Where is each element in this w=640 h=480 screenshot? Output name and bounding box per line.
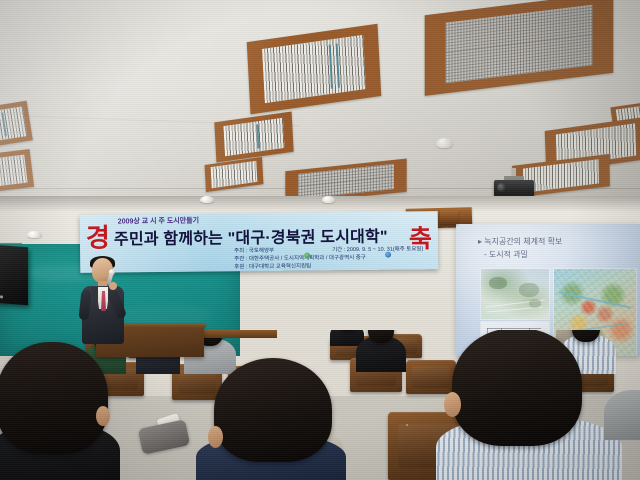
banner-left-mark: 경	[86, 225, 110, 251]
ceiling-vent	[0, 149, 34, 193]
organizer-logo-icon	[304, 252, 310, 258]
ceiling-vent	[205, 157, 264, 192]
ceiling-vent	[214, 112, 293, 163]
folded-cloth	[138, 419, 190, 454]
lecture-chair	[406, 360, 456, 394]
wall-speaker	[0, 245, 28, 305]
city-logo-icon	[385, 252, 391, 258]
wall-ceiling-shadow	[0, 196, 640, 212]
wall-wood-trim	[440, 210, 458, 224]
event-banner: 경 축 2009상 교 시 주 도시만들기 주민과 함께하는 "대구·경북권 도…	[80, 211, 439, 273]
ceiling-vent	[512, 154, 610, 198]
audience-ear	[208, 426, 223, 448]
audience-person	[604, 390, 640, 440]
ceiling	[0, 0, 640, 206]
smoke-detector-icon	[436, 138, 453, 148]
banner-date-line: 기간 : 2009. 9. 5 ~ 10. 31(매주 토요일)	[332, 244, 423, 253]
banner-sponsor-line: 후원 : 대구대학교 교육혁신지원팀	[234, 261, 311, 270]
ceiling-vent	[545, 117, 640, 173]
ceiling-light-fixture	[27, 231, 42, 238]
audience-head-foreground-left	[0, 342, 108, 454]
ceiling-vent	[0, 101, 33, 148]
ceiling-vent	[247, 24, 381, 115]
audience-ear	[444, 392, 461, 417]
ceiling-vent	[425, 0, 614, 96]
presenter	[82, 258, 126, 348]
audience-head-foreground-right	[452, 330, 582, 446]
ceiling-light-fixture	[200, 196, 214, 203]
audience-ear	[96, 406, 110, 426]
slide-image-aerial	[481, 269, 549, 319]
ceiling-light-fixture	[322, 196, 335, 203]
photo-scene: 경 축 2009상 교 시 주 도시만들기 주민과 함께하는 "대구·경북권 도…	[0, 0, 640, 480]
slide-bullet-1: ▸ 녹지공간의 체계적 확보	[478, 236, 562, 247]
presenter-lapel-left	[91, 287, 98, 311]
ceiling-vent	[610, 101, 640, 133]
slide-bullet-2: - 도시적 과밀	[484, 249, 528, 260]
audience-head-foreground-center	[214, 358, 332, 462]
